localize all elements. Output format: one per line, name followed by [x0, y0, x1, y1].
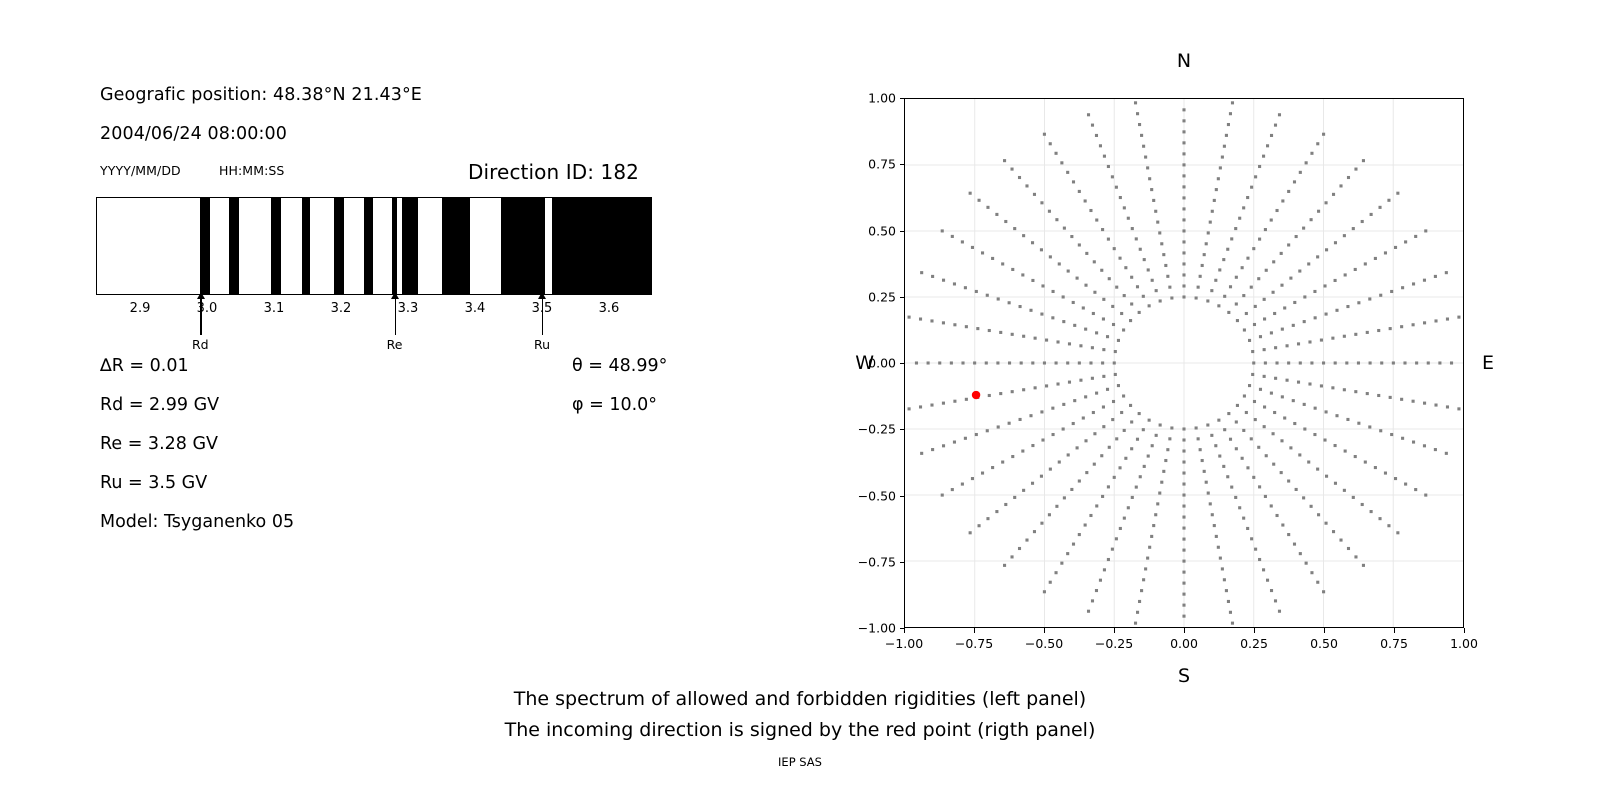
scatter-point — [1364, 262, 1367, 265]
scatter-point — [919, 317, 922, 320]
scatter-point — [1263, 348, 1266, 351]
scatter-point — [1033, 530, 1036, 533]
scatter-point — [1108, 277, 1111, 280]
scatter-point — [1182, 615, 1185, 618]
parameter-line: Rd = 2.99 GV — [100, 395, 219, 415]
scatter-point — [1424, 229, 1427, 232]
scatter-point — [1078, 190, 1081, 193]
scatter-point — [1049, 581, 1052, 584]
scatter-point — [1322, 133, 1325, 136]
scatter-point — [1021, 273, 1024, 276]
scatter-point — [1197, 286, 1200, 289]
scatter-point — [1182, 130, 1185, 133]
scatter-point — [1258, 485, 1261, 488]
scatter-point — [1310, 361, 1313, 364]
scatter-point — [1380, 361, 1383, 364]
figure-caption: The spectrum of allowed and forbidden ri… — [0, 684, 1600, 746]
scatter-point — [1201, 459, 1204, 462]
scatter-point — [908, 407, 911, 410]
scatter-point — [1254, 418, 1257, 421]
scatter-point — [1113, 247, 1116, 250]
scatter-point — [1134, 101, 1137, 104]
scatter-point — [1412, 441, 1415, 444]
scatter-point — [1278, 610, 1281, 613]
scatter-point — [1215, 535, 1218, 538]
scatter-point — [1115, 537, 1118, 540]
scatter-point — [1272, 260, 1275, 263]
x-axis-tick-label: 0.50 — [1310, 636, 1338, 651]
scatter-point — [1227, 600, 1230, 603]
scatter-point — [1404, 483, 1407, 486]
scatter-point — [1214, 444, 1217, 447]
scatter-point — [1085, 252, 1088, 255]
scatter-point — [1246, 466, 1249, 469]
scatter-point — [1339, 539, 1342, 542]
scatter-point — [1297, 381, 1300, 384]
x-axis-tick-label: −0.75 — [955, 636, 993, 651]
scatter-point — [1258, 238, 1261, 241]
scatter-point — [1131, 227, 1134, 230]
scatter-plot-frame — [904, 98, 1464, 628]
datetime-label: 2004/06/24 08:00:00 — [100, 124, 287, 144]
scatter-point — [997, 297, 1000, 300]
y-tick-mark — [900, 164, 905, 165]
scatter-point — [1270, 218, 1273, 221]
scatter-point — [1138, 123, 1141, 126]
scatter-point — [1343, 388, 1346, 391]
scatter-point — [1164, 459, 1167, 462]
rigidity-spectrum-panel: Geografic position: 48.38°N 21.43°E 2004… — [0, 0, 720, 660]
scatter-point — [1115, 186, 1118, 189]
scatter-point — [942, 321, 945, 324]
scatter-point — [1286, 379, 1289, 382]
scatter-point — [1078, 479, 1081, 482]
scatter-point — [1091, 346, 1094, 349]
scatter-point — [1155, 289, 1158, 292]
scatter-point — [1092, 411, 1095, 414]
scatter-point — [1089, 361, 1092, 364]
scatter-point — [1377, 329, 1380, 332]
scatter-point — [1148, 177, 1151, 180]
scatter-point — [1345, 361, 1348, 364]
scatter-point — [1062, 295, 1065, 298]
scatter-point — [1389, 396, 1392, 399]
scatter-point — [1396, 531, 1399, 534]
scatter-point — [919, 405, 922, 408]
scatter-point — [1139, 475, 1142, 478]
y-tick-mark — [900, 562, 905, 563]
scatter-point — [1147, 268, 1150, 271]
scatter-point — [969, 192, 972, 195]
y-axis-tick-label: 0.25 — [868, 289, 896, 304]
scatter-point — [1004, 503, 1007, 506]
scatter-point — [1041, 438, 1044, 441]
scatter-point — [1029, 414, 1032, 417]
scatter-point — [1082, 306, 1085, 309]
scatter-point — [1076, 446, 1079, 449]
scatter-point — [953, 282, 956, 285]
scatter-point — [1378, 517, 1381, 520]
scatter-point — [1325, 522, 1328, 525]
x-axis-tick-label: −0.25 — [1095, 636, 1133, 651]
scatter-point — [991, 257, 994, 260]
x-tick-mark — [1114, 628, 1115, 633]
scatter-point — [1111, 548, 1114, 551]
scatter-point — [1130, 276, 1133, 279]
y-tick-mark — [900, 297, 905, 298]
scatter-point — [1222, 465, 1225, 468]
scatter-point — [1182, 141, 1185, 144]
scatter-point — [1063, 496, 1066, 499]
scatter-point — [981, 251, 984, 254]
scatter-point — [1123, 429, 1126, 432]
scatter-point — [1008, 301, 1011, 304]
scatter-point — [1112, 400, 1115, 403]
scatter-point — [1150, 188, 1153, 191]
scatter-point — [1140, 589, 1143, 592]
marker-arrow-head-icon — [197, 292, 205, 299]
scatter-point — [1230, 486, 1233, 489]
scatter-point — [1084, 328, 1087, 331]
scatter-point — [1158, 231, 1161, 234]
scatter-point — [1062, 427, 1065, 430]
scatter-point — [1010, 168, 1013, 171]
scatter-point — [1136, 285, 1139, 288]
scatter-point — [1242, 429, 1245, 432]
spectrum-bar-container — [96, 197, 652, 295]
scatter-point — [1313, 290, 1316, 293]
scatter-point — [1056, 340, 1059, 343]
y-tick-mark — [900, 98, 905, 99]
scatter-point — [1056, 382, 1059, 385]
scatter-point — [1210, 289, 1213, 292]
plot-gridlines — [905, 99, 1463, 627]
scatter-point — [1310, 505, 1313, 508]
scatter-point — [1119, 196, 1122, 199]
scatter-point — [1151, 444, 1154, 447]
scatter-point — [1346, 418, 1349, 421]
scatter-point — [1218, 455, 1221, 458]
forbidden-band — [364, 198, 373, 294]
x-axis-tick-label: 0.25 — [1240, 636, 1268, 651]
scatter-point — [1004, 220, 1007, 223]
scatter-point — [1263, 317, 1266, 320]
scatter-point — [964, 286, 967, 289]
scatter-point — [1254, 175, 1257, 178]
marker-arrow-shaft — [542, 299, 543, 335]
scatter-point — [1334, 444, 1337, 447]
scatter-point — [1389, 327, 1392, 330]
scatter-point — [930, 404, 933, 407]
scatter-point — [1310, 218, 1313, 221]
scatter-point — [1043, 361, 1046, 364]
geographic-position-label: Geografic position: 48.38°N 21.43°E — [100, 85, 422, 105]
scatter-point — [1209, 221, 1212, 224]
scatter-point — [1280, 284, 1283, 287]
y-axis-tick-label: −0.50 — [858, 488, 896, 503]
forbidden-band — [334, 198, 344, 294]
scatter-point — [1182, 505, 1185, 508]
scatter-point — [1434, 448, 1437, 451]
scatter-point — [1334, 279, 1337, 282]
y-axis-tick-label: −0.25 — [858, 422, 896, 437]
marker-arrow-head-icon — [538, 292, 546, 299]
y-axis-tick-label: −1.00 — [858, 621, 896, 636]
scatter-point — [1089, 209, 1092, 212]
scatter-point — [1182, 582, 1185, 585]
scatter-point — [1361, 220, 1364, 223]
scatter-point — [1250, 186, 1253, 189]
scatter-point — [1142, 295, 1145, 298]
scatter-point — [1400, 325, 1403, 328]
scatter-point — [1164, 264, 1167, 267]
x-tick-mark — [1184, 628, 1185, 633]
scatter-point — [1182, 560, 1185, 563]
scatter-point — [1146, 166, 1149, 169]
scatter-point — [1248, 339, 1251, 342]
scatter-point — [1102, 375, 1105, 378]
scatter-point — [1111, 418, 1114, 421]
scatter-point — [1051, 316, 1054, 319]
scatter-point — [1114, 373, 1117, 376]
scatter-point — [1370, 510, 1373, 513]
scatter-point — [1001, 461, 1004, 464]
scatter-point — [1262, 155, 1265, 158]
scatter-point — [973, 361, 976, 364]
scatter-point — [1084, 395, 1087, 398]
scatter-point — [1045, 339, 1048, 342]
scatter-point — [1310, 571, 1313, 574]
scatter-point — [1107, 165, 1110, 168]
scatter-point — [1067, 269, 1070, 272]
scatter-point — [1302, 496, 1305, 499]
scatter-point — [1123, 294, 1126, 297]
scatter-point — [1404, 240, 1407, 243]
scatter-point — [1058, 262, 1061, 265]
scatter-point — [1122, 394, 1125, 397]
scatter-point — [1221, 156, 1224, 159]
scatter-point — [1130, 420, 1133, 423]
scatter-point — [986, 294, 989, 297]
scatter-point — [978, 524, 981, 527]
scatter-point — [1219, 166, 1222, 169]
rigidity-spectrum-bar — [96, 197, 652, 295]
scatter-point — [1258, 558, 1261, 561]
scatter-point — [1283, 416, 1286, 419]
scatter-point — [1308, 382, 1311, 385]
scatter-point — [1205, 481, 1208, 484]
scatter-point — [1320, 339, 1323, 342]
scatter-point — [1276, 514, 1279, 517]
scatter-point — [1263, 375, 1266, 378]
scatter-point — [1218, 268, 1221, 271]
scatter-point — [1254, 548, 1257, 551]
scatter-point — [1084, 199, 1087, 202]
scatter-point — [1019, 418, 1022, 421]
scatter-plot-canvas — [905, 99, 1463, 627]
scatter-point — [1136, 438, 1139, 441]
scatter-point — [1403, 361, 1406, 364]
scatter-point — [1182, 229, 1185, 232]
scatter-point — [1085, 471, 1088, 474]
scatter-point — [1052, 290, 1055, 293]
spectrum-tick-label: 3.2 — [331, 301, 352, 316]
scatter-point — [1427, 361, 1430, 364]
scatter-point — [1138, 412, 1141, 415]
scatter-point — [1251, 350, 1254, 353]
forbidden-band — [271, 198, 281, 294]
scatter-point — [1159, 423, 1162, 426]
scatter-point — [1152, 524, 1155, 527]
scatter-point — [1031, 482, 1034, 485]
scatter-point — [999, 392, 1002, 395]
scatter-point — [1070, 235, 1073, 238]
scatter-point — [1357, 422, 1360, 425]
scatter-point — [1250, 286, 1253, 289]
scatter-point — [1234, 496, 1237, 499]
parameter-line: θ = 48.99° — [572, 356, 667, 376]
scatter-point — [953, 441, 956, 444]
scatter-point — [1117, 339, 1120, 342]
scatter-point — [1073, 324, 1076, 327]
scatter-point — [1354, 455, 1357, 458]
scatter-point — [1213, 524, 1216, 527]
scatter-point — [1199, 275, 1202, 278]
scatter-point — [1354, 268, 1357, 271]
scatter-point — [1387, 524, 1390, 527]
scatter-point — [965, 325, 968, 328]
scatter-point — [1299, 171, 1302, 174]
scatter-point — [1168, 437, 1171, 440]
scatter-point — [1423, 279, 1426, 282]
scatter-point — [1320, 384, 1323, 387]
scatter-point — [1412, 323, 1415, 326]
scatter-point — [1227, 311, 1230, 314]
scatter-point — [1344, 273, 1347, 276]
scatter-point — [1089, 514, 1092, 517]
scatter-point — [1394, 477, 1397, 480]
scatter-point — [1287, 533, 1290, 536]
scatter-point — [1048, 210, 1051, 213]
scatter-point — [1339, 184, 1342, 187]
scatter-point — [953, 400, 956, 403]
marker-label: Re — [387, 337, 403, 352]
scatter-point — [1182, 449, 1185, 452]
incoming-direction-point[interactable] — [972, 391, 980, 399]
scatter-point — [1226, 248, 1229, 251]
scatter-point — [1182, 471, 1185, 474]
scatter-point — [1130, 447, 1133, 450]
scatter-point — [1108, 446, 1111, 449]
scatter-point — [1323, 438, 1326, 441]
scatter-point — [1253, 323, 1256, 326]
scatter-point — [1072, 543, 1075, 546]
scatter-point — [1018, 176, 1021, 179]
scatter-point — [1099, 144, 1102, 147]
spectrum-tick-label: 3.3 — [398, 301, 419, 316]
scatter-point — [1160, 481, 1163, 484]
scatter-point — [1273, 312, 1276, 315]
scatter-point — [1401, 437, 1404, 440]
scatter-point — [1457, 407, 1460, 410]
scatter-point — [1434, 404, 1437, 407]
scatter-point — [1412, 282, 1415, 285]
scatter-point — [1068, 381, 1071, 384]
scatter-point — [1067, 453, 1070, 456]
scatter-point — [1162, 470, 1165, 473]
scatter-point — [1148, 546, 1151, 549]
scatter-point — [1226, 475, 1229, 478]
scatter-point — [1214, 279, 1217, 282]
scatter-point — [1235, 302, 1238, 305]
scatter-point — [1423, 444, 1426, 447]
spectrum-tick-label: 2.9 — [130, 301, 151, 316]
scatter-point — [1148, 304, 1151, 307]
scatter-point — [1111, 175, 1114, 178]
scatter-point — [930, 319, 933, 322]
scatter-point — [1084, 523, 1087, 526]
scatter-point — [1182, 295, 1185, 298]
scatter-point — [915, 361, 918, 364]
scatter-point — [1246, 196, 1249, 199]
y-axis-tick-label: 0.75 — [868, 157, 896, 172]
scatter-point — [1182, 262, 1185, 265]
scatter-point — [1078, 243, 1081, 246]
scatter-point — [1396, 192, 1399, 195]
scatter-point — [1102, 298, 1105, 301]
scatter-point — [969, 531, 972, 534]
scatter-point — [942, 279, 945, 282]
scatter-point — [1003, 159, 1006, 162]
scatter-point — [1400, 398, 1403, 401]
time-format-hint: HH:MM:SS — [219, 163, 284, 178]
scatter-point — [1182, 152, 1185, 155]
scatter-point — [1041, 284, 1044, 287]
scatter-point — [1248, 384, 1251, 387]
scatter-point — [1040, 248, 1043, 251]
scatter-point — [1305, 161, 1308, 164]
scatter-point — [1055, 152, 1058, 155]
scatter-point — [1364, 461, 1367, 464]
scatter-point — [1144, 567, 1147, 570]
scatter-point — [978, 199, 981, 202]
scatter-point — [1139, 248, 1142, 251]
y-axis-tick-label: 0.50 — [868, 223, 896, 238]
scatter-point — [1223, 428, 1226, 431]
spectrum-tick-label: 3.6 — [599, 301, 620, 316]
scatter-point — [986, 429, 989, 432]
scatter-point — [1325, 248, 1328, 251]
scatter-point — [1182, 284, 1185, 287]
scatter-point — [985, 361, 988, 364]
scatter-point — [1099, 579, 1102, 582]
scatter-point — [1031, 241, 1034, 244]
compass-label-north: N — [1177, 50, 1191, 72]
scatter-point — [1299, 552, 1302, 555]
scatter-point — [1223, 578, 1226, 581]
scatter-point — [1252, 247, 1255, 250]
scatter-point — [1113, 361, 1116, 364]
scatter-point — [1062, 403, 1065, 406]
scatter-point — [1361, 503, 1364, 506]
scatter-point — [1182, 571, 1185, 574]
scatter-point — [1265, 454, 1268, 457]
scatter-point — [1206, 299, 1209, 302]
x-tick-mark — [1254, 628, 1255, 633]
scatter-point — [986, 517, 989, 520]
scatter-point — [938, 361, 941, 364]
scatter-point — [1060, 161, 1063, 164]
